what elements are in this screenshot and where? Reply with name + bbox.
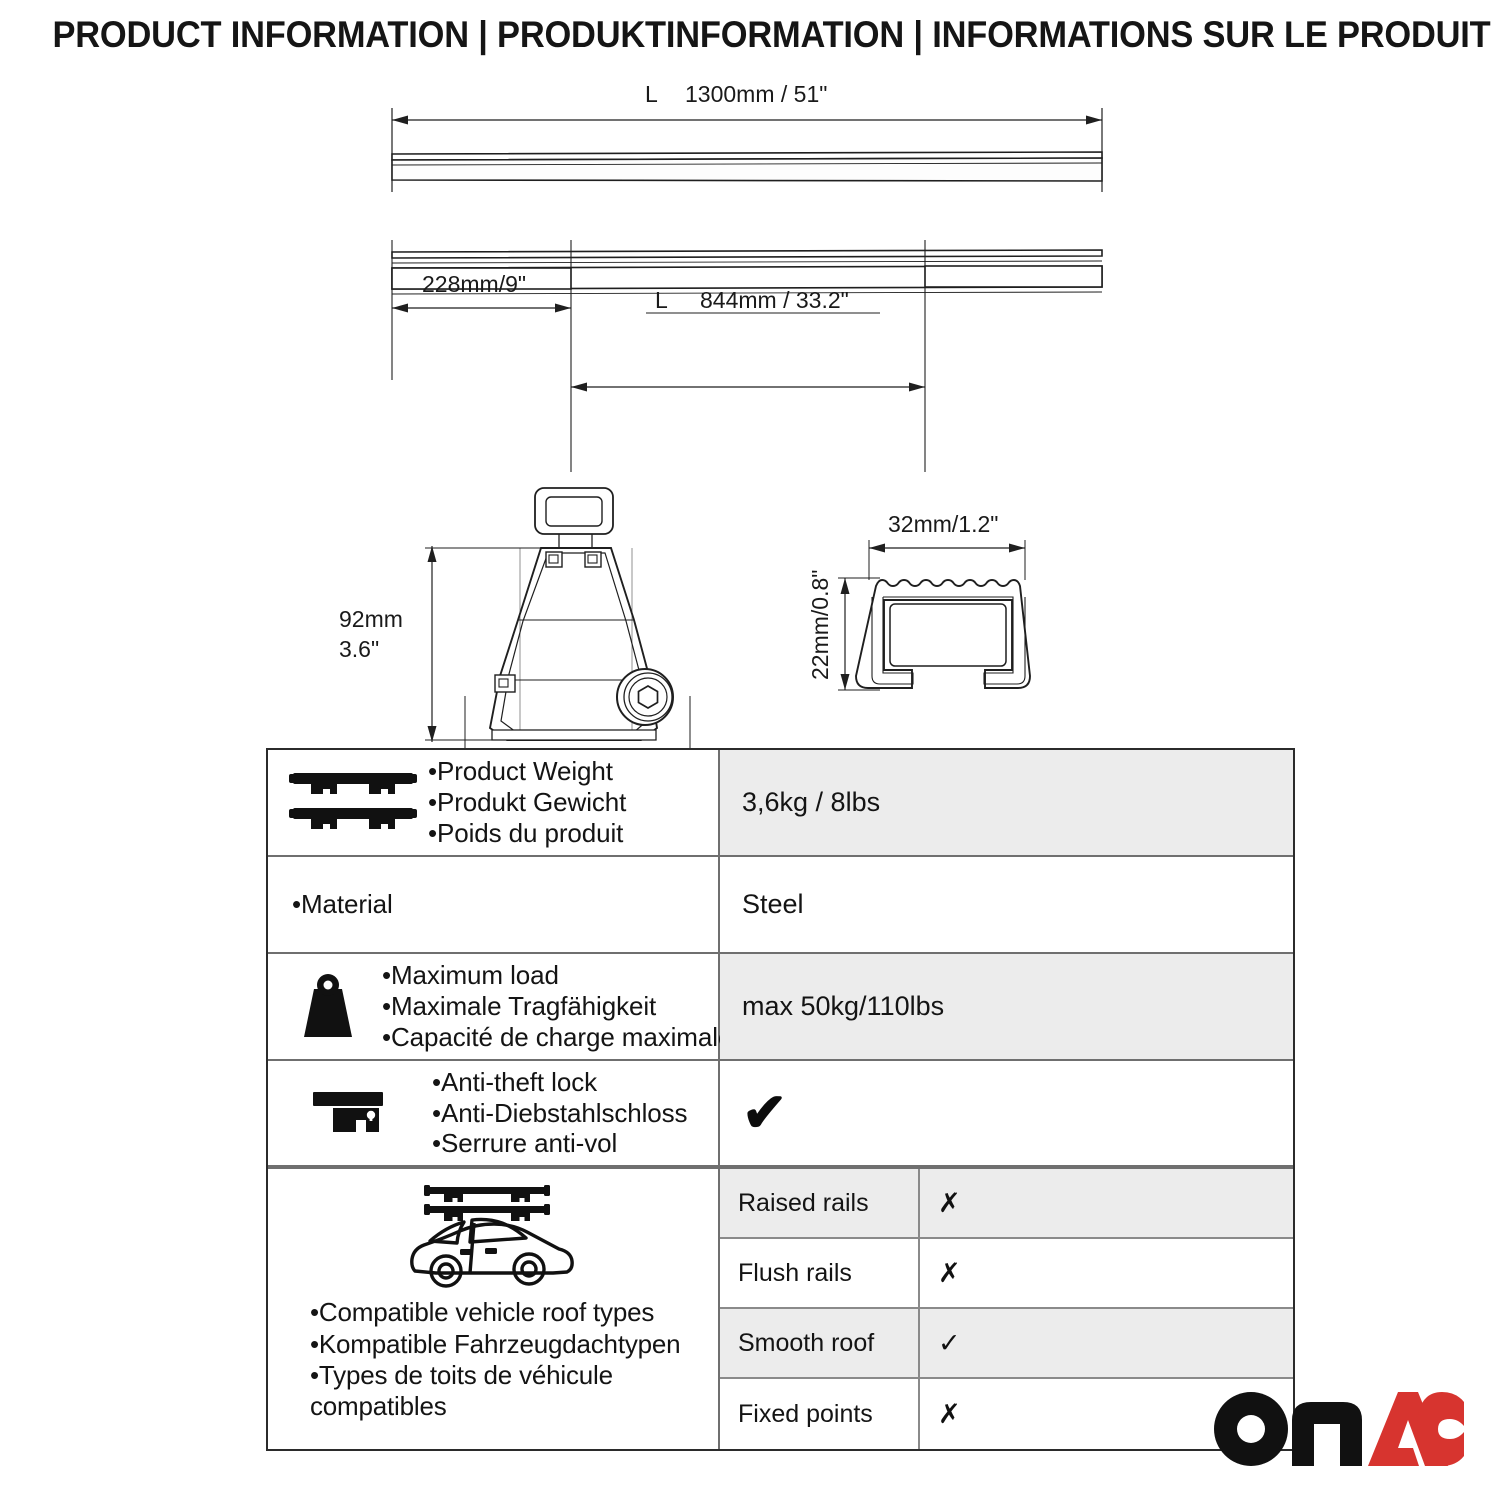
logo-letter-o-counter [1237, 1415, 1265, 1443]
spec-labels: •Material [292, 863, 393, 946]
omac-logo [1212, 1390, 1464, 1468]
hex-socket [639, 686, 658, 708]
arrow-right-844 [909, 383, 925, 392]
compatibility-label-cell: •Compatible vehicle roof types •Kompatib… [268, 1169, 720, 1449]
check-icon: ✔ [742, 1086, 787, 1140]
spec-label-line: •Anti-theft lock [432, 1067, 687, 1098]
spec-label-cell: •Anti-theft lock •Anti-Diebstahlschloss … [268, 1061, 720, 1166]
label-1300mm: 1300mm / 51" [685, 81, 827, 107]
compatibility-label-line: •Kompatible Fahrzeugdachtypen [310, 1329, 680, 1360]
roof-type-name: Fixed points [720, 1379, 920, 1449]
compatibility-label-line: •Compatible vehicle roof types [310, 1297, 680, 1328]
roof-type-value: ✗ [920, 1169, 1293, 1237]
spec-labels: •Anti-theft lock •Anti-Diebstahlschloss … [432, 1067, 687, 1160]
lock-icon [274, 1084, 432, 1142]
page-title: PRODUCT INFORMATION | PRODUKTINFORMATION… [53, 14, 1448, 56]
roof-type-row: Raised rails ✗ [720, 1169, 1293, 1239]
spec-value-cell: max 50kg/110lbs [720, 954, 1293, 1059]
roof-type-name: Smooth roof [720, 1309, 920, 1377]
arrow-top-22 [841, 578, 850, 594]
foot-side-tab-inner [499, 679, 508, 687]
label-22mm: 22mm/0.8" [807, 570, 833, 680]
spec-value-cell: Steel [720, 857, 1293, 952]
spec-labels: •Maximum load •Maximale Tragfähigkeit •C… [382, 960, 732, 1053]
roof-type-value: ✗ [920, 1239, 1293, 1307]
spec-labels: •Product Weight •Produkt Gewicht •Poids … [428, 756, 626, 849]
foot-base-plate [492, 730, 656, 740]
spec-value-cell: 3,6kg / 8lbs [720, 750, 1293, 855]
table-row: •Anti-theft lock •Anti-Diebstahlschloss … [268, 1061, 1293, 1168]
arrow-right-1300 [1086, 116, 1102, 125]
compatibility-labels: •Compatible vehicle roof types •Kompatib… [276, 1297, 680, 1422]
crossbars-icon [278, 767, 428, 837]
logo-letter-c [1417, 1392, 1464, 1466]
label-L-844-prefix: L [655, 287, 668, 313]
label-844mm: 844mm / 33.2" [700, 287, 849, 313]
spec-label-line: •Serrure anti-vol [432, 1128, 687, 1159]
technical-drawings: L 1300mm / 51" 228mm/9" L 844mm / 33.2" … [0, 80, 1500, 740]
roof-type-row: Flush rails ✗ [720, 1239, 1293, 1309]
drawings-svg: L 1300mm / 51" 228mm/9" L 844mm / 33.2" … [0, 80, 1500, 740]
arrow-right-32 [1009, 544, 1025, 553]
specification-table: •Product Weight •Produkt Gewicht •Poids … [266, 748, 1295, 1451]
arrow-left-32 [869, 544, 885, 553]
logo-letter-m [1292, 1402, 1362, 1466]
bar-top-body [392, 158, 1102, 181]
car-with-crossbars-icon [402, 1179, 584, 1291]
roof-types-subtable: Raised rails ✗ Flush rails ✗ Smooth roof… [720, 1169, 1293, 1449]
arrow-left-1300 [392, 116, 408, 125]
roof-type-row: Smooth roof ✓ [720, 1309, 1293, 1379]
spec-label-line: •Material [292, 889, 393, 920]
label-3.6in: 3.6" [339, 636, 379, 662]
table-row: •Compatible vehicle roof types •Kompatib… [268, 1167, 1293, 1449]
label-L-1300-prefix: L [645, 81, 658, 107]
foot-block-right [925, 266, 1102, 287]
table-row: •Material Steel [268, 857, 1293, 954]
roof-type-name: Flush rails [720, 1239, 920, 1307]
compatibility-label-line: compatibles [310, 1391, 680, 1422]
table-row: •Product Weight •Produkt Gewicht •Poids … [268, 750, 1293, 857]
spec-label-cell: •Product Weight •Produkt Gewicht •Poids … [268, 750, 720, 855]
spec-label-cell: •Material [268, 857, 720, 952]
roof-type-name: Raised rails [720, 1169, 920, 1237]
bar-side-rib [392, 250, 1102, 258]
arrow-bottom-22 [841, 674, 850, 690]
spec-label-line: •Produkt Gewicht [428, 787, 626, 818]
arrow-left-228 [392, 304, 408, 313]
spec-label-cell: •Maximum load •Maximale Tragfähigkeit •C… [268, 954, 720, 1059]
spec-label-line: •Capacité de charge maximale [382, 1022, 732, 1053]
foot-fitting-left-inner [549, 555, 558, 563]
spec-label-line: •Maximale Tragfähigkeit [382, 991, 732, 1022]
compatibility-label-line: •Types de toits de véhicule [310, 1360, 680, 1391]
bar-side-line [392, 261, 1102, 263]
spec-value-cell: ✔ [720, 1061, 1293, 1166]
roof-type-row: Fixed points ✗ [720, 1379, 1293, 1449]
roof-type-value: ✓ [920, 1309, 1293, 1377]
label-32mm: 32mm/1.2" [888, 511, 998, 537]
arrow-right-228 [555, 304, 571, 313]
label-92mm: 92mm [339, 606, 403, 632]
spec-label-line: •Poids du produit [428, 818, 626, 849]
profile-cavity [890, 604, 1006, 666]
foot-bar-inner [546, 497, 602, 526]
product-information-sheet: PRODUCT INFORMATION | PRODUKTINFORMATION… [0, 0, 1500, 1500]
label-228mm: 228mm/9" [422, 271, 526, 297]
weight-icon [274, 971, 382, 1041]
arrow-left-844 [571, 383, 587, 392]
table-row: •Maximum load •Maximale Tragfähigkeit •C… [268, 954, 1293, 1061]
spec-label-line: •Product Weight [428, 756, 626, 787]
foot-fitting-right-inner [588, 555, 597, 563]
spec-label-line: •Anti-Diebstahlschloss [432, 1098, 687, 1129]
omac-logo-mark [1212, 1390, 1464, 1468]
spec-label-line: •Maximum load [382, 960, 732, 991]
page-header: PRODUCT INFORMATION | PRODUKTINFORMATION… [0, 14, 1500, 56]
